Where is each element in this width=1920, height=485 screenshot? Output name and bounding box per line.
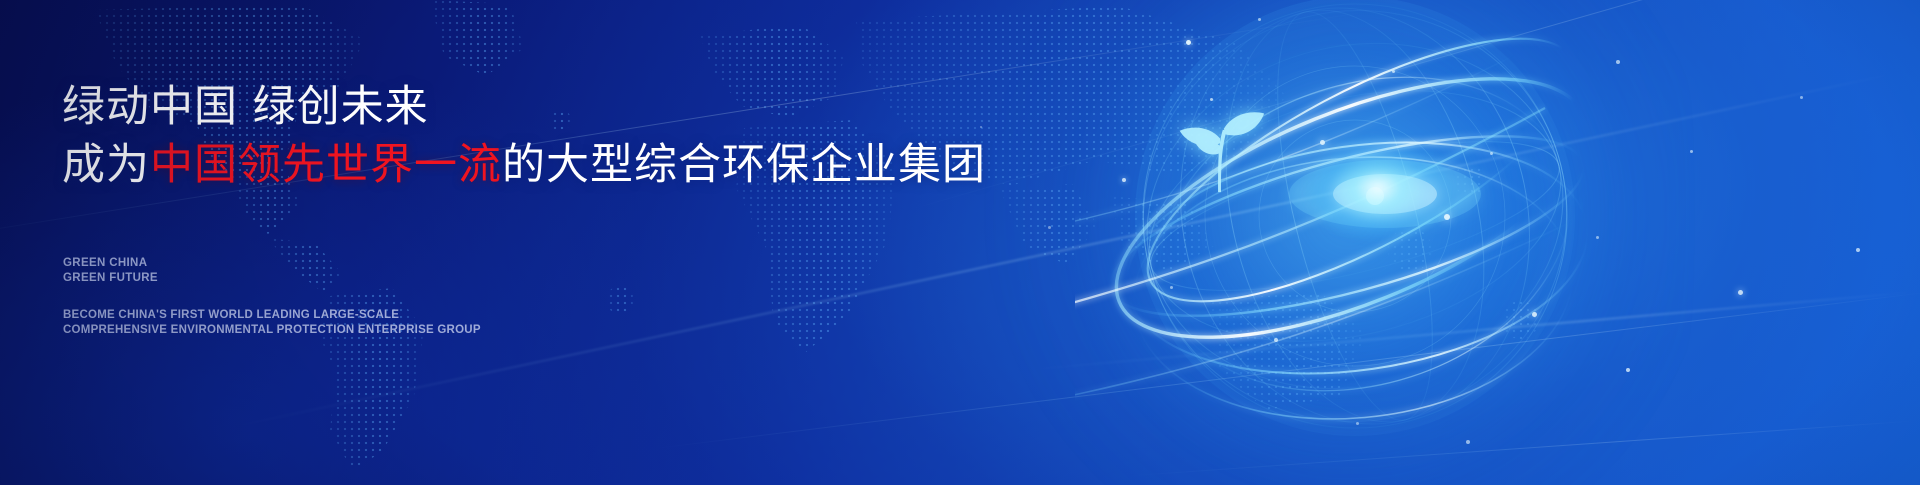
sprout-leaf-icon <box>1172 100 1268 196</box>
headline-line-1: 绿动中国 绿创未来 <box>62 78 1062 136</box>
tagline-block: GREEN CHINA GREEN FUTURE <box>63 256 158 285</box>
subtitle-line-2: COMPREHENSIVE ENVIRONMENTAL PROTECTION E… <box>63 323 481 338</box>
headline-block: 绿动中国 绿创未来 成为中国领先世界一流的大型综合环保企业集团 <box>62 78 1062 194</box>
subtitle-line-1: BECOME CHINA'S FIRST WORLD LEADING LARGE… <box>63 308 481 323</box>
subtitle-block: BECOME CHINA'S FIRST WORLD LEADING LARGE… <box>63 308 481 337</box>
glowing-wire-globe <box>1075 0 1595 478</box>
headline-highlight: 中国领先世界一流 <box>150 140 502 190</box>
headline-suffix: 的大型综合环保企业集团 <box>502 140 986 190</box>
tagline-line-1: GREEN CHINA <box>63 256 158 271</box>
headline-prefix: 成为 <box>62 140 150 190</box>
banner-text-content: 绿动中国 绿创未来 成为中国领先世界一流的大型综合环保企业集团 GREEN CH… <box>62 0 1062 485</box>
tagline-line-2: GREEN FUTURE <box>63 271 158 286</box>
headline-line-2: 成为中国领先世界一流的大型综合环保企业集团 <box>62 136 1062 194</box>
hero-banner: 绿动中国 绿创未来 成为中国领先世界一流的大型综合环保企业集团 GREEN CH… <box>0 0 1920 485</box>
